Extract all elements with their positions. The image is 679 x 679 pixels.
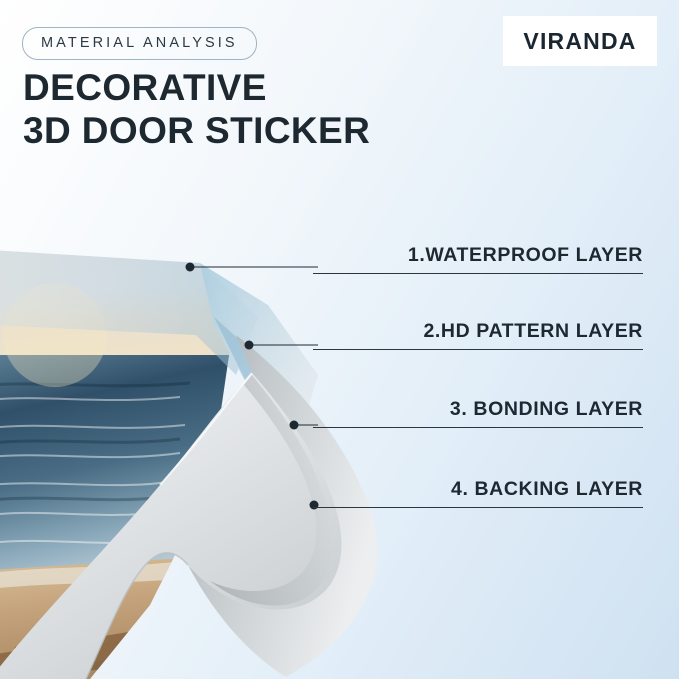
eyebrow-badge: MATERIAL ANALYSIS [22,27,257,60]
callout-hd-pattern-layer: 2.HD PATTERN LAYER [313,320,643,350]
brand-logo-box: VIRANDA [503,16,657,66]
brand-name: VIRANDA [523,28,636,55]
poster-canvas: MATERIAL ANALYSIS DECORATIVE 3D DOOR STI… [0,0,679,679]
page-title-line2: 3D DOOR STICKER [23,109,370,152]
callout-bonding-layer: 3. BONDING LAYER [313,398,643,428]
callout-backing-layer: 4. BACKING LAYER [313,478,643,508]
page-title: DECORATIVE 3D DOOR STICKER [23,66,370,152]
callout-waterproof-layer: 1.WATERPROOF LAYER [313,244,643,274]
page-title-line1: DECORATIVE [23,67,267,108]
